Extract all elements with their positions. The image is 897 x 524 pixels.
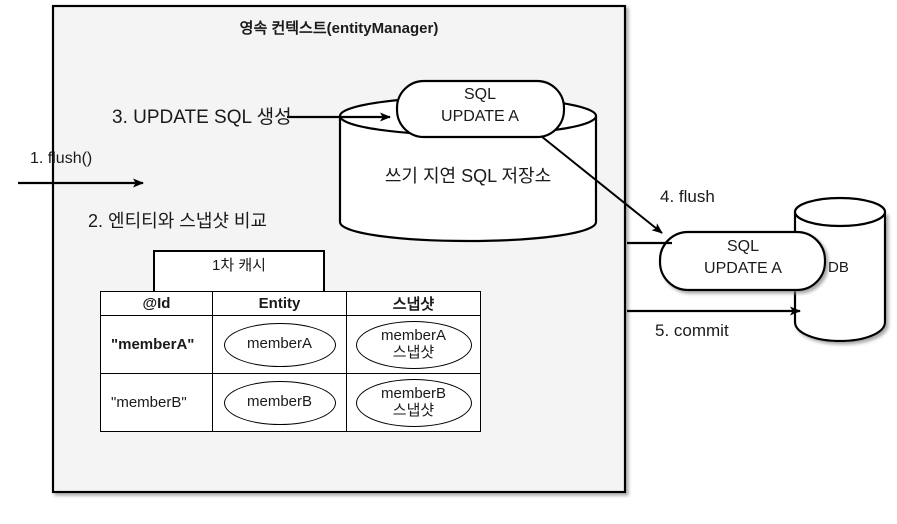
outgoing-sql-line2: UPDATE A — [663, 260, 823, 278]
snapshot-ellipse-line2: 스냅샷 — [393, 403, 434, 420]
cell-entity-member-a: memberA — [213, 316, 347, 374]
column-header-id: @Id — [101, 292, 213, 316]
cell-entity-member-b: memberB — [213, 374, 347, 432]
database-label: DB — [828, 259, 849, 276]
outgoing-sql-line1: SQL — [663, 238, 823, 256]
entity-ellipse-label: memberB — [247, 394, 312, 411]
column-header-snapshot: 스냅샷 — [347, 292, 481, 316]
cell-snapshot-member-b: memberB 스냅샷 — [347, 374, 481, 432]
snapshot-ellipse-line1: memberB — [381, 386, 446, 403]
diagram-canvas: 영속 컨텍스트(entityManager) 3. UPDATE SQL 생성 … — [0, 0, 897, 524]
table-row: "memberB" memberB memberB 스냅샷 — [101, 374, 481, 432]
cell-id-member-a: "memberA" — [101, 316, 213, 374]
write-behind-store-label: 쓰기 지연 SQL 저장소 — [348, 166, 588, 187]
snapshot-ellipse-member-a: memberA 스냅샷 — [356, 321, 472, 369]
page-title: 영속 컨텍스트(entityManager) — [0, 20, 678, 37]
step-label-commit: 5. commit — [655, 321, 729, 341]
step-label-flush: 4. flush — [660, 187, 715, 207]
stored-sql-line2: UPDATE A — [400, 108, 560, 126]
column-header-entity: Entity — [213, 292, 347, 316]
cell-id-member-b: "memberB" — [101, 374, 213, 432]
step-label-entity-snapshot-compare: 2. 엔티티와 스냅샷 비교 — [88, 211, 267, 232]
snapshot-ellipse-line2: 스냅샷 — [393, 345, 434, 362]
snapshot-ellipse-line1: memberA — [381, 328, 446, 345]
entity-ellipse-member-a: memberA — [224, 323, 336, 367]
step-label-update-sql: 3. UPDATE SQL 생성 — [112, 107, 292, 129]
table-row: "memberA" memberA memberA 스냅샷 — [101, 316, 481, 374]
entity-ellipse-member-b: memberB — [224, 381, 336, 425]
table-header-row: @Id Entity 스냅샷 — [101, 292, 481, 316]
entity-ellipse-label: memberA — [247, 336, 312, 353]
snapshot-ellipse-member-b: memberB 스냅샷 — [356, 379, 472, 427]
stored-sql-line1: SQL — [400, 86, 560, 104]
first-level-cache-table: @Id Entity 스냅샷 "memberA" memberA memberA… — [100, 291, 481, 432]
cell-snapshot-member-a: memberA 스냅샷 — [347, 316, 481, 374]
first-level-cache-caption: 1차 캐시 — [155, 257, 323, 274]
step-label-flush-call: 1. flush() — [30, 150, 92, 168]
